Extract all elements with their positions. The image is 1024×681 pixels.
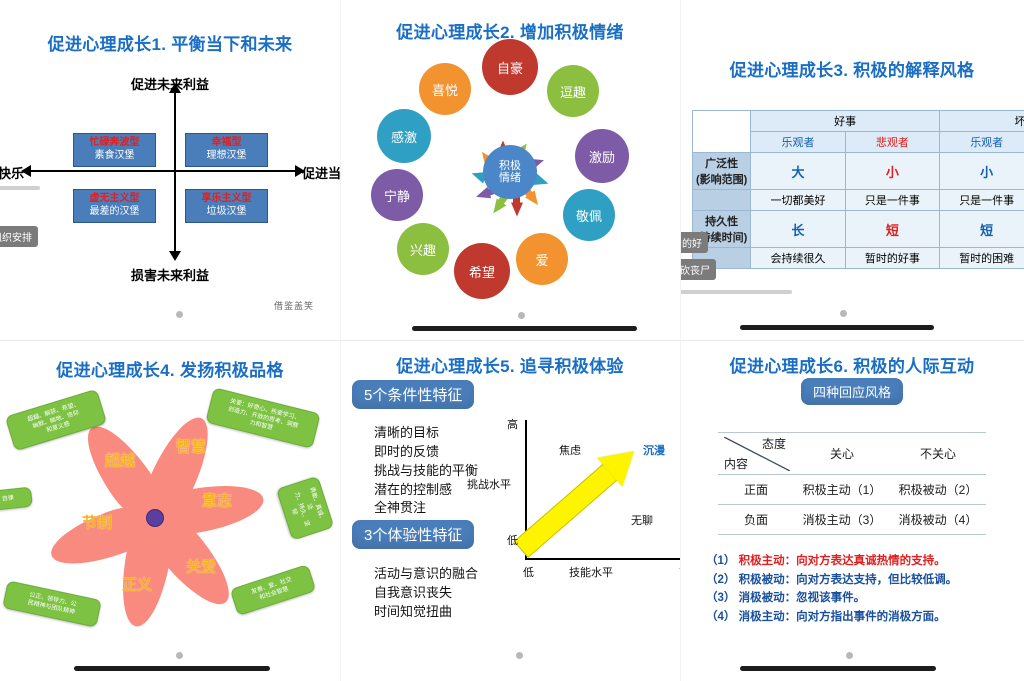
quadrant-box-bottom-right: 享乐主义型 垃圾汉堡 xyxy=(185,189,268,223)
quadrant-sub: 最差的汉堡 xyxy=(76,206,153,219)
column-header-not-caring: 不关心 xyxy=(890,433,986,475)
list-item: 活动与意识的融合 xyxy=(374,565,478,584)
table-row-pervasiveness-value: 广泛性 (影响范围) 大 小 小 大 xyxy=(693,153,1024,190)
note-number: （4） xyxy=(706,611,735,623)
quadrant-chart: 促进未来利益 损害未来利益 当下快乐 促进当 忙碌奔波型 素食汉堡 幸福型 理想… xyxy=(0,0,340,340)
table-corner-cell xyxy=(693,111,751,153)
list-item: 清晰的目标 xyxy=(374,424,478,443)
axis-label-bottom: 损害未来利益 xyxy=(0,265,340,284)
emotion-wheel-core: 积极 情绪 xyxy=(483,145,537,199)
row-label-positive: 正面 xyxy=(718,475,794,505)
cell-detail: 暂时的好事 xyxy=(845,248,939,269)
cell-active-constructive: 积极主动（1） xyxy=(794,475,890,505)
note-key: 积极被动： xyxy=(739,574,797,586)
home-indicator-bar[interactable] xyxy=(740,325,934,330)
cell-detail: 只是一件事 xyxy=(940,190,1024,211)
chart-x-axis xyxy=(525,558,680,560)
page-indicator-dot[interactable] xyxy=(840,310,847,317)
clipped-chip-2[interactable]: 人组织安排 xyxy=(0,226,38,247)
emotion-bubble-inspiration[interactable]: 激励 xyxy=(575,129,629,183)
note-item: （3） 消极被动：忽视该事件。 xyxy=(706,589,957,608)
table-row-positive: 正面 积极主动（1） 积极被动（2） xyxy=(718,475,986,505)
cell-detail: 一切都美好 xyxy=(751,190,845,211)
list-item: 全神贯注 xyxy=(374,499,478,518)
row-divider xyxy=(0,340,1024,341)
cell-active-destructive: 消极主动（3） xyxy=(794,505,890,535)
chart-x-low-label: 低 xyxy=(523,564,534,580)
panel-balance-present-future: 促进心理成长1. 平衡当下和未来 促进未来利益 损害未来利益 当下快乐 促进当 … xyxy=(0,0,340,340)
axis-label-top: 促进未来利益 xyxy=(0,74,340,93)
note-item: （4） 消极主动：向对方指出事件的消极方面。 xyxy=(706,608,957,627)
note-value: 向对方表达真诚热情的支持。 xyxy=(796,555,946,567)
note-number: （2） xyxy=(706,574,735,586)
column-divider-2 xyxy=(680,0,681,681)
table-row-negative: 负面 消极主动（3） 消极被动（4） xyxy=(718,505,986,535)
note-key: 消极被动： xyxy=(739,592,797,604)
panel3-title: 促进心理成长3. 积极的解释风格 xyxy=(680,56,1024,81)
core-line-2: 情绪 xyxy=(499,172,521,184)
flower-center xyxy=(146,509,164,527)
chart-x-axis-title: 技能水平 xyxy=(569,564,613,580)
chart-y-high-label: 高 xyxy=(507,416,518,432)
cell-detail: 只是一件事 xyxy=(845,190,939,211)
flow-channel-chart: 高 低 挑战水平 低 技能水平 高 焦虑 无聊 沉漫 xyxy=(525,420,680,575)
strength-tag-wisdom[interactable]: 关爱：好奇心、热爱学习、 创造力、开放的思考、洞察 力和智慧 xyxy=(205,387,321,449)
note-value: 向对方表达支持，但比较低调。 xyxy=(796,574,957,586)
flow-arrow xyxy=(514,443,642,558)
home-indicator-bar[interactable] xyxy=(412,326,637,331)
column-header-caring: 关心 xyxy=(794,433,890,475)
pill-conditional-features[interactable]: 5个条件性特征 xyxy=(352,380,474,409)
cell-value: 小 xyxy=(845,153,939,190)
explanatory-style-table: 好事 坏事 乐观者 悲观者 乐观者 悲观者 广泛性 (影响范围) 大 小 小 大 xyxy=(692,110,1024,269)
conditional-features-list: 清晰的目标 即时的反馈 挑战与技能的平衡 潜在的控制感 全神贯注 xyxy=(374,424,478,518)
axis-label-right: 促进当 xyxy=(302,163,340,182)
page-indicator-dot[interactable] xyxy=(176,652,183,659)
emotion-bubble-awe[interactable]: 敬佩 xyxy=(563,189,615,241)
cell-value: 短 xyxy=(940,211,1024,248)
sub-header-pessimist-good: 悲观者 xyxy=(845,132,939,153)
list-item: 挑战与技能的平衡 xyxy=(374,462,478,481)
strength-tag-courage[interactable]: 勇敢、真诚、活 力、持久、坚韧 xyxy=(276,476,335,541)
home-indicator-bar[interactable] xyxy=(740,666,936,671)
corner-label-content: 内容 xyxy=(724,455,748,472)
list-item: 自我意识丧失 xyxy=(374,584,478,603)
row-label-negative: 负面 xyxy=(718,505,794,535)
sub-header-optimist-bad: 乐观者 xyxy=(940,132,1024,153)
emotion-bubble-serenity[interactable]: 宁静 xyxy=(371,169,423,221)
panel4-title: 促进心理成长4. 发扬积极品格 xyxy=(0,356,340,381)
quadrant-sub: 理想汉堡 xyxy=(188,150,265,163)
petal-label-courage: 意志 xyxy=(202,490,232,511)
strength-tag-temperance[interactable]: 谦逊、自律 xyxy=(0,487,33,514)
sub-header-optimist-good: 乐观者 xyxy=(751,132,845,153)
quadrant-sub: 垃圾汉堡 xyxy=(188,206,265,219)
panel-character-strengths: 促进心理成长4. 发扬积极品格 智慧 意志 关爱 正义 节制 超越 超越、解获、… xyxy=(0,340,340,681)
quadrant-title: 幸福型 xyxy=(188,137,265,150)
list-item: 时间知觉扭曲 xyxy=(374,603,478,622)
table-row-header: 态度 内容 关心 不关心 xyxy=(718,433,986,475)
quadrant-box-top-right: 幸福型 理想汉堡 xyxy=(185,133,268,167)
row-header-line-1: 广泛性 xyxy=(696,155,747,171)
x-axis xyxy=(30,170,296,172)
page-indicator-dot[interactable] xyxy=(516,652,523,659)
table-row-group-header: 好事 坏事 xyxy=(693,111,1024,132)
note-item: （1） 积极主动：向对方表达真诚热情的支持。 xyxy=(706,552,957,571)
table-row-pervasiveness-detail: 一切都美好 只是一件事 只是一件事 会毁掉一 xyxy=(693,190,1024,211)
emotion-bubble-joy[interactable]: 喜悦 xyxy=(419,63,471,115)
clipped-chip-1[interactable]: 身的好 xyxy=(680,232,708,253)
group-header-bad: 坏事 xyxy=(940,111,1024,132)
table-corner-cell: 态度 内容 xyxy=(718,433,794,475)
cell-detail: 暂时的困难 xyxy=(940,248,1024,269)
row-header-line-2: (影响范围) xyxy=(696,171,747,187)
cell-value: 大 xyxy=(751,153,845,190)
cell-value: 小 xyxy=(940,153,1024,190)
core-line-1: 积极 xyxy=(499,160,521,172)
emotion-wheel: 自豪 逗趣 激励 敬佩 爱 希望 兴趣 宁静 感激 喜悦 积极 情绪 xyxy=(375,47,645,297)
home-indicator-bar[interactable] xyxy=(74,666,270,671)
group-header-good: 好事 xyxy=(751,111,940,132)
page-indicator-dot[interactable] xyxy=(518,312,525,319)
row-header-line-1: 持久性 xyxy=(696,213,747,229)
petal-label-humanity: 关爱 xyxy=(186,556,216,577)
note-key: 积极主动： xyxy=(739,555,797,567)
panel-explanatory-style: 促进心理成长3. 积极的解释风格 好事 坏事 乐观者 悲观者 乐观者 悲观者 广… xyxy=(680,0,1024,340)
note-item: （2） 积极被动：向对方表达支持，但比较低调。 xyxy=(706,571,957,590)
note-value: 向对方指出事件的消极方面。 xyxy=(796,611,946,623)
emotion-bubble-gratitude[interactable]: 感激 xyxy=(377,109,431,163)
panel1-credit: 借鉴盖笑 xyxy=(274,299,314,312)
cell-value: 长 xyxy=(751,211,845,248)
emotion-bubble-love[interactable]: 爱 xyxy=(516,233,568,285)
table-row-permanence-value: 持久性 (持续时间) 长 短 短 长 xyxy=(693,211,1024,248)
petal-label-transcendence: 超越 xyxy=(105,450,135,471)
strength-tag-justice[interactable]: 公正、领导力、公 民精神与团队精神 xyxy=(2,580,102,628)
cell-detail: 会持续很久 xyxy=(751,248,845,269)
quadrant-title: 忙碌奔波型 xyxy=(76,137,153,150)
chart-y-axis-title: 挑战水平 xyxy=(467,476,511,492)
panel-interpersonal-response: 促进心理成长6. 积极的人际互动 四种回应风格 态度 内容 关心 不关心 正面 … xyxy=(680,340,1024,681)
row-header-pervasiveness: 广泛性 (影响范围) xyxy=(693,153,751,190)
quadrant-title: 享乐主义型 xyxy=(188,193,265,206)
petal-label-justice: 正义 xyxy=(122,574,152,595)
quadrant-title: 虚无主义型 xyxy=(76,193,153,206)
strength-tag-humanity[interactable]: 友善、爱、社交 和社会智慧 xyxy=(230,564,317,616)
chart-flow-label: 沉漫 xyxy=(643,442,665,458)
quadrant-box-bottom-left: 虚无主义型 最差的汉堡 xyxy=(73,189,156,223)
pill-experiential-features[interactable]: 3个体验性特征 xyxy=(352,520,474,549)
note-number: （3） xyxy=(706,592,735,604)
cell-value: 短 xyxy=(845,211,939,248)
emotion-bubble-interest[interactable]: 兴趣 xyxy=(397,223,449,275)
list-item: 即时的反馈 xyxy=(374,443,478,462)
page-indicator-dot[interactable] xyxy=(176,311,183,318)
clipped-progress-line xyxy=(680,290,792,294)
emotion-bubble-hope[interactable]: 希望 xyxy=(454,243,510,299)
response-style-notes: （1） 积极主动：向对方表达真诚热情的支持。 （2） 积极被动：向对方表达支持，… xyxy=(706,552,957,627)
emotion-bubble-pride[interactable]: 自豪 xyxy=(482,39,538,95)
axis-label-left: 当下快乐 xyxy=(0,163,24,182)
page-indicator-dot[interactable] xyxy=(846,652,853,659)
row-header-spacer xyxy=(693,190,751,211)
note-number: （1） xyxy=(706,555,735,567)
clipped-chip-2[interactable]: 区砍丧尸 xyxy=(680,259,716,280)
panel6-title: 促进心理成长6. 积极的人际互动 xyxy=(680,352,1024,377)
flow-arrow-shaft xyxy=(514,463,619,558)
pill-four-response-styles[interactable]: 四种回应风格 xyxy=(801,378,903,405)
quadrant-box-top-left: 忙碌奔波型 素食汉堡 xyxy=(73,133,156,167)
petal-label-wisdom: 智慧 xyxy=(176,436,206,457)
note-key: 消极主动： xyxy=(739,611,797,623)
column-divider-1 xyxy=(340,0,341,681)
cell-passive-destructive: 消极被动（4） xyxy=(890,505,986,535)
chart-zone-boredom: 无聊 xyxy=(631,512,653,528)
clipped-progress-line xyxy=(0,186,40,190)
emotion-bubble-amusement[interactable]: 逗趣 xyxy=(547,65,599,117)
chart-zone-anxiety: 焦虑 xyxy=(559,442,581,458)
cell-passive-constructive: 积极被动（2） xyxy=(890,475,986,505)
panel5-title: 促进心理成长5. 追寻积极体验 xyxy=(340,352,680,377)
quadrant-sub: 素食汉堡 xyxy=(76,150,153,163)
chart-y-low-label: 低 xyxy=(507,532,518,548)
y-axis xyxy=(174,92,176,252)
table-row-permanence-detail: 会持续很久 暂时的好事 暂时的困难 会持续很 xyxy=(693,248,1024,269)
list-item: 潜在的控制感 xyxy=(374,481,478,500)
note-value: 忽视该事件。 xyxy=(796,592,865,604)
slide-grid: 促进心理成长1. 平衡当下和未来 促进未来利益 损害未来利益 当下快乐 促进当 … xyxy=(0,0,1024,681)
petal-label-temperance: 节制 xyxy=(82,512,112,533)
panel-flow-experience: 促进心理成长5. 追寻积极体验 5个条件性特征 清晰的目标 即时的反馈 挑战与技… xyxy=(340,340,680,681)
experiential-features-list: 活动与意识的融合 自我意识丧失 时间知觉扭曲 xyxy=(374,565,478,622)
response-style-table: 态度 内容 关心 不关心 正面 积极主动（1） 积极被动（2） 负面 消极主动（… xyxy=(718,432,986,535)
panel-positive-emotions: 促进心理成长2. 增加积极情绪 自豪 逗趣 激励 敬佩 爱 希望 兴趣 宁静 感… xyxy=(340,0,680,340)
corner-label-attitude: 态度 xyxy=(762,435,786,452)
